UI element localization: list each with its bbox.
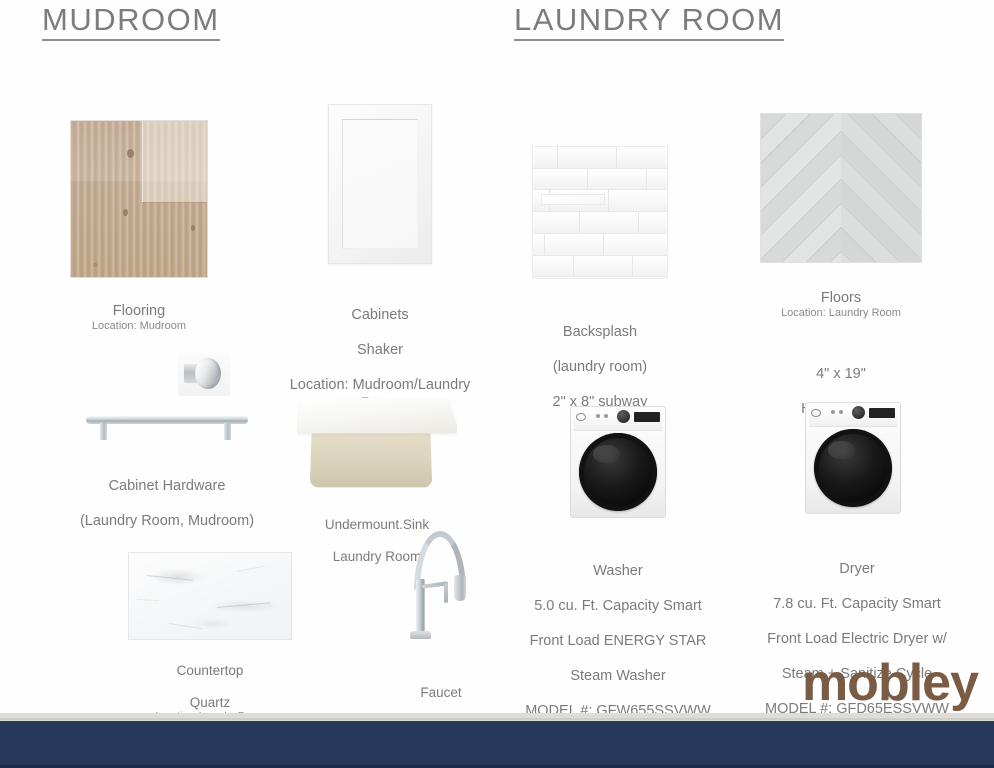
wood-knot: [93, 263, 98, 267]
item-cabinet-hardware: Cabinet Hardware (Laundry Room, Mudroom): [74, 352, 260, 530]
control-button: [604, 414, 608, 418]
wood-knot: [127, 149, 134, 158]
countertop-name: Countertop: [177, 663, 244, 678]
flooring-location: Location: Mudroom: [70, 320, 208, 334]
dryer-name: Dryer: [839, 561, 874, 577]
footer-divider: [0, 713, 994, 721]
brand-logo-icon: [576, 413, 586, 421]
dryer-door: [814, 429, 892, 507]
cabinet-bar-pull-icon: [86, 410, 248, 442]
cabinet-recessed-panel: [342, 119, 418, 249]
title-underline: [42, 39, 220, 41]
pull-post: [100, 423, 107, 440]
cabinet-hardware-name: Cabinet Hardware: [109, 478, 226, 494]
floors-size: 4" x 19": [816, 366, 866, 382]
control-button: [596, 414, 600, 418]
backsplash-swatch: [532, 146, 668, 279]
pull-post: [224, 423, 231, 440]
floors-caption: Floors Location: Laundry Room 4" x 19" H…: [760, 272, 922, 418]
cabinet-hardware-location: (Laundry Room, Mudroom): [80, 513, 254, 529]
flooring-swatch: [70, 120, 208, 278]
knob-cap: [195, 358, 221, 389]
control-dial: [852, 406, 865, 419]
cabinets-name: Cabinets: [351, 307, 408, 323]
design-selection-board: MUDROOM LAUNDRY ROOM Flooring Location: …: [0, 0, 994, 768]
cabinets-style: Shaker: [357, 342, 403, 358]
cabinet-knob-icon: [178, 352, 230, 396]
flooring-name: Flooring: [113, 303, 165, 319]
cabinet-hardware-swatch: [74, 352, 260, 448]
faucet-base: [410, 631, 431, 639]
section-title-laundry-room: LAUNDRY ROOM: [514, 2, 784, 41]
sink-rim: [297, 397, 457, 433]
undermount-sink-swatch: [297, 385, 457, 493]
dryer-capacity: 7.8 cu. Ft. Capacity Smart: [773, 596, 941, 612]
control-button: [839, 410, 843, 414]
flooring-light-plank: [142, 121, 207, 202]
washer-caption: Washer 5.0 cu. Ft. Capacity Smart Front …: [522, 528, 618, 738]
washer-image: [570, 406, 666, 518]
cabinet-door-swatch: [328, 104, 432, 264]
washer-description: Front Load ENERGY STAR: [530, 633, 707, 649]
flooring-plank-seam: [142, 202, 207, 203]
washer-capacity: 5.0 cu. Ft. Capacity Smart: [534, 598, 702, 614]
section-title-mudroom: MUDROOM: [42, 2, 220, 41]
washer-type: Steam Washer: [570, 668, 665, 684]
faucet-lever-handle: [444, 583, 448, 603]
item-washer: Washer 5.0 cu. Ft. Capacity Smart Front …: [570, 406, 666, 738]
item-flooring: Flooring Location: Mudroom: [70, 120, 208, 351]
section-title-mudroom-text: MUDROOM: [42, 2, 220, 37]
floors-name: Floors: [821, 290, 861, 306]
dryer-description: Front Load Electric Dryer w/: [767, 631, 947, 647]
brand-logo-icon: [811, 409, 821, 417]
backsplash-room: (laundry room): [553, 359, 647, 375]
tile-gloss-highlight: [541, 194, 605, 204]
logo-wordmark: mobley: [802, 658, 978, 708]
faucet-spray-head: [454, 575, 466, 601]
footer-band: [0, 721, 994, 768]
faucet-image: [404, 527, 478, 647]
washer-name: Washer: [593, 563, 642, 579]
cabinet-hardware-caption: Cabinet Hardware (Laundry Room, Mudroom): [74, 460, 260, 530]
display-screen: [634, 412, 660, 422]
countertop-swatch: [128, 552, 292, 640]
item-floors: Floors Location: Laundry Room 4" x 19" H…: [760, 113, 922, 418]
floors-location: Location: Laundry Room: [760, 307, 922, 321]
wood-knot: [123, 209, 128, 216]
faucet-name: Faucet: [420, 685, 461, 700]
title-underline: [514, 39, 784, 41]
floors-swatch: [760, 113, 922, 263]
flooring-caption: Flooring Location: Mudroom: [70, 285, 208, 351]
wood-knot: [191, 225, 195, 231]
backsplash-name: Backsplash: [563, 324, 637, 340]
dryer-image: [805, 402, 901, 514]
section-title-laundry-room-text: LAUNDRY ROOM: [514, 2, 784, 37]
flooring-plank-seam: [142, 121, 143, 202]
control-button: [831, 410, 835, 414]
display-screen: [869, 408, 895, 418]
countertop-material: Quartz: [190, 695, 231, 710]
control-dial: [617, 410, 630, 423]
washer-door: [579, 433, 657, 511]
